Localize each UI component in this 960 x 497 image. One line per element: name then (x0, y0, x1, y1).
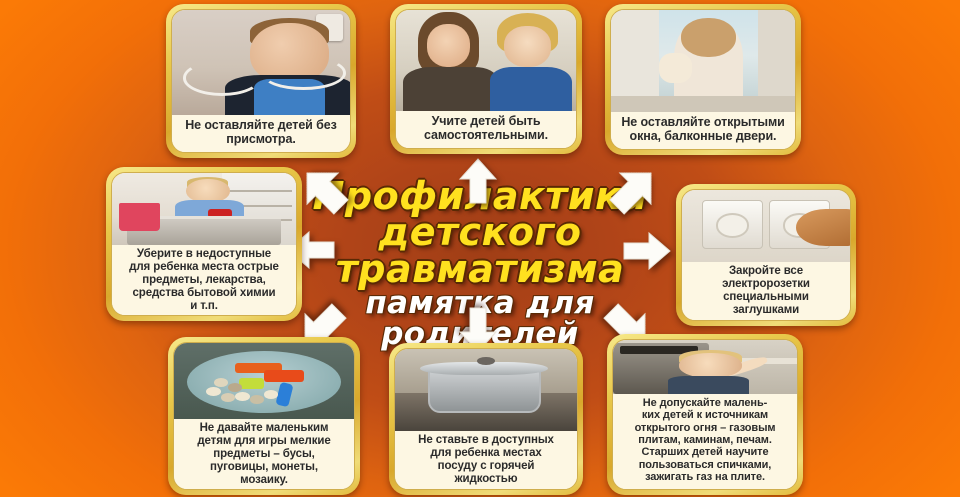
card-outlets[interactable]: Закройте все электророзетки специальными… (676, 184, 856, 326)
card-inner: Не давайте маленьким детям для игры мелк… (173, 342, 355, 490)
card-caption: Не ставьте в доступных для ребенка места… (395, 431, 577, 489)
mother-face-shape (427, 24, 470, 66)
child-reaching-stove-photo (613, 340, 797, 394)
arrow-up-glyph (458, 157, 498, 205)
card-inner: Не допускайте малень- ких детей к источн… (612, 339, 798, 490)
block-shape (264, 370, 304, 381)
mother-body-shape (403, 67, 497, 111)
child-arm-shape (659, 53, 692, 84)
arrow-up-icon (458, 157, 498, 205)
electrical-outlet-covers-photo (682, 190, 850, 262)
toddler-at-open-drawer-photo (112, 173, 296, 245)
hand-shape (796, 209, 850, 246)
baby-with-cords-photo (172, 10, 350, 115)
child-head-shape (681, 18, 736, 57)
bead-shape (250, 395, 264, 404)
bead-shape (235, 392, 249, 401)
mother-teaching-child-photo (396, 10, 576, 111)
outlet-cover-shape (716, 213, 750, 237)
cord-shape (183, 60, 261, 96)
card-windows[interactable]: Не оставляйте открытыми окна, балконные … (605, 4, 801, 155)
card-caption: Учите детей быть самостоятельными. (396, 111, 576, 148)
pot-on-stove-photo (395, 349, 577, 431)
card-inner: Учите детей быть самостоятельными. (395, 9, 577, 149)
infographic-poster: Не оставляйте детей без присмотра. Учите… (0, 0, 960, 497)
bag-shape (119, 203, 159, 230)
card-caption: Уберите в недоступные для ребенка места … (112, 245, 296, 315)
block-shape (239, 378, 264, 389)
card-inner: Не ставьте в доступных для ребенка места… (394, 348, 578, 490)
bowl-of-small-objects-photo (174, 343, 354, 419)
child-head-shape (679, 353, 742, 378)
arrow-right-glyph (622, 230, 672, 272)
card-sharp-objects[interactable]: Уберите в недоступные для ребенка места … (106, 167, 302, 321)
card-inner: Не оставляйте детей без присмотра. (171, 9, 351, 153)
card-supervision[interactable]: Не оставляйте детей без присмотра. (166, 4, 356, 158)
child-body-shape (668, 376, 749, 394)
card-independence[interactable]: Учите детей быть самостоятельными. (390, 4, 582, 154)
arrow-right-icon (622, 230, 672, 272)
card-caption: Не допускайте малень- ких детей к источн… (613, 394, 797, 489)
child-body-shape (490, 67, 573, 111)
card-inner: Закройте все электророзетки специальными… (681, 189, 851, 321)
card-hot-liquids[interactable]: Не ставьте в доступных для ребенка места… (389, 343, 583, 495)
card-caption: Не давайте маленьким детям для игры мелк… (174, 419, 354, 489)
bowl-shape (187, 351, 342, 413)
card-open-flame[interactable]: Не допускайте малень- ких детей к источн… (607, 334, 803, 495)
card-small-parts[interactable]: Не давайте маленьким детям для игры мелк… (168, 337, 360, 495)
title-line-3: травматизма (298, 251, 662, 287)
cabinet-line (230, 190, 293, 192)
card-caption: Не оставляйте детей без присмотра. (172, 115, 350, 152)
bead-shape (206, 387, 220, 396)
cord-shape (261, 56, 346, 90)
window-sill-shape (611, 96, 795, 112)
child-at-window-photo (611, 10, 795, 112)
card-inner: Уберите в недоступные для ребенка места … (111, 172, 297, 316)
card-inner: Не оставляйте открытыми окна, балконные … (610, 9, 796, 150)
bead-shape (228, 383, 242, 392)
title-line-2: детского (298, 214, 662, 250)
card-caption: Закройте все электророзетки специальными… (682, 262, 850, 320)
bead-shape (214, 378, 228, 387)
child-face-shape (504, 26, 551, 66)
card-caption: Не оставляйте открытыми окна, балконные … (611, 112, 795, 149)
